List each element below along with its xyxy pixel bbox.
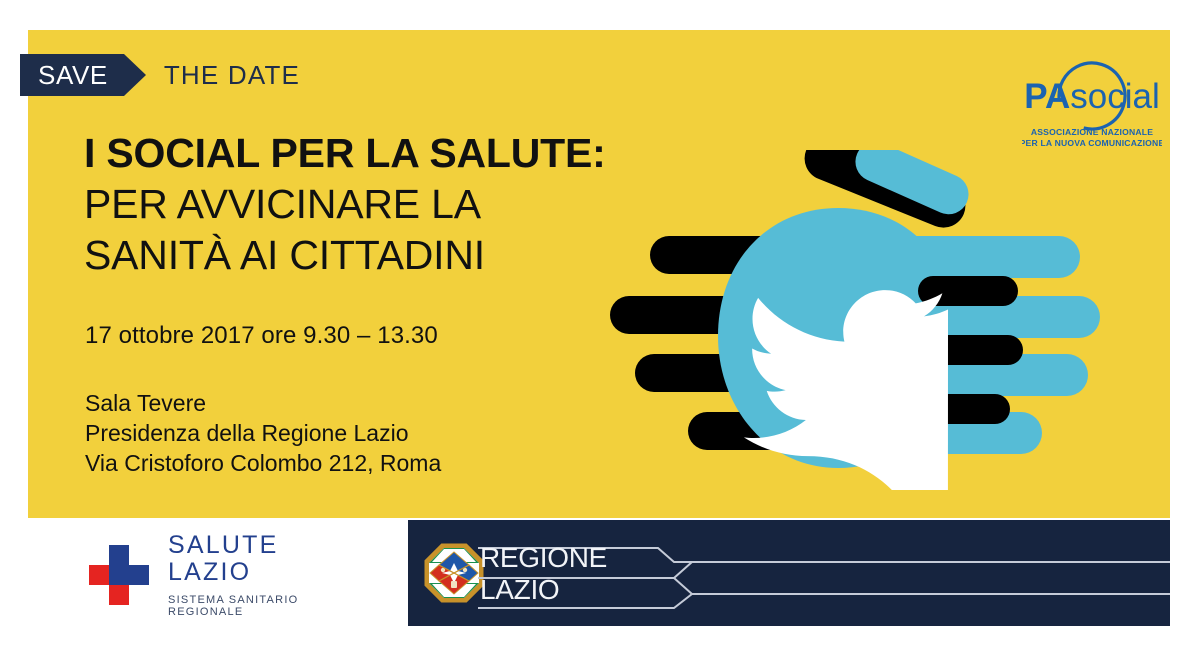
- twitter-hand-svg: [600, 150, 1170, 490]
- pasocial-logo-svg: PAsocial ASSOCIAZIONE NAZIONALE PER LA N…: [1022, 56, 1162, 152]
- save-tag-label: SAVE: [38, 62, 108, 88]
- venue-line-2: Presidenza della Regione Lazio: [85, 418, 441, 448]
- salute-cross-icon: [88, 544, 150, 606]
- venue-line-1: Sala Tevere: [85, 388, 441, 418]
- salute-wordmark: SALUTE LAZIO SISTEMA SANITARIO REGIONALE: [168, 532, 338, 618]
- event-venue: Sala Tevere Presidenza della Regione Laz…: [85, 388, 441, 478]
- regione-line-1: REGIONE: [480, 542, 660, 574]
- finger-1: [830, 236, 1080, 278]
- headline-line-2: PER AVVICINARE LA: [84, 179, 606, 230]
- regione-lazio-wordmark: REGIONE LAZIO: [480, 542, 660, 606]
- pasocial-tagline-line2: PER LA NUOVA COMUNICAZIONE: [1022, 138, 1162, 148]
- venue-line-3: Via Cristoforo Colombo 212, Roma: [85, 448, 441, 478]
- headline-line-1: I SOCIAL PER LA SALUTE:: [84, 128, 606, 179]
- save-tag-arrow-icon: [124, 54, 146, 96]
- salute-lazio-logo: SALUTE LAZIO SISTEMA SANITARIO REGIONALE: [88, 541, 338, 609]
- regione-lazio-emblem-icon: [424, 543, 484, 603]
- headline: I SOCIAL PER LA SALUTE: PER AVVICINARE L…: [84, 128, 606, 281]
- cross-right-arm: [109, 565, 149, 585]
- regione-line-2: LAZIO: [480, 574, 660, 606]
- pasocial-tagline-line1: ASSOCIAZIONE NAZIONALE: [1031, 127, 1153, 137]
- save-tag: SAVE: [20, 54, 124, 96]
- pasocial-word-pa: PA: [1024, 77, 1070, 116]
- salute-title: SALUTE LAZIO: [168, 532, 338, 587]
- headline-line-3: SANITÀ AI CITTADINI: [84, 230, 606, 281]
- pasocial-word-social: social: [1070, 77, 1159, 116]
- event-date: 17 ottobre 2017 ore 9.30 – 13.30: [85, 322, 438, 350]
- regione-lazio-band: REGIONE LAZIO: [408, 520, 1170, 626]
- pasocial-wordmark: PAsocial: [1024, 77, 1160, 116]
- twitter-hand-illustration: [600, 150, 1170, 490]
- pasocial-logo: PAsocial ASSOCIAZIONE NAZIONALE PER LA N…: [1022, 56, 1162, 152]
- the-date-label: THE DATE: [164, 62, 300, 88]
- save-the-date-banner: SAVE THE DATE: [20, 54, 300, 96]
- salute-subtitle: SISTEMA SANITARIO REGIONALE: [168, 594, 338, 618]
